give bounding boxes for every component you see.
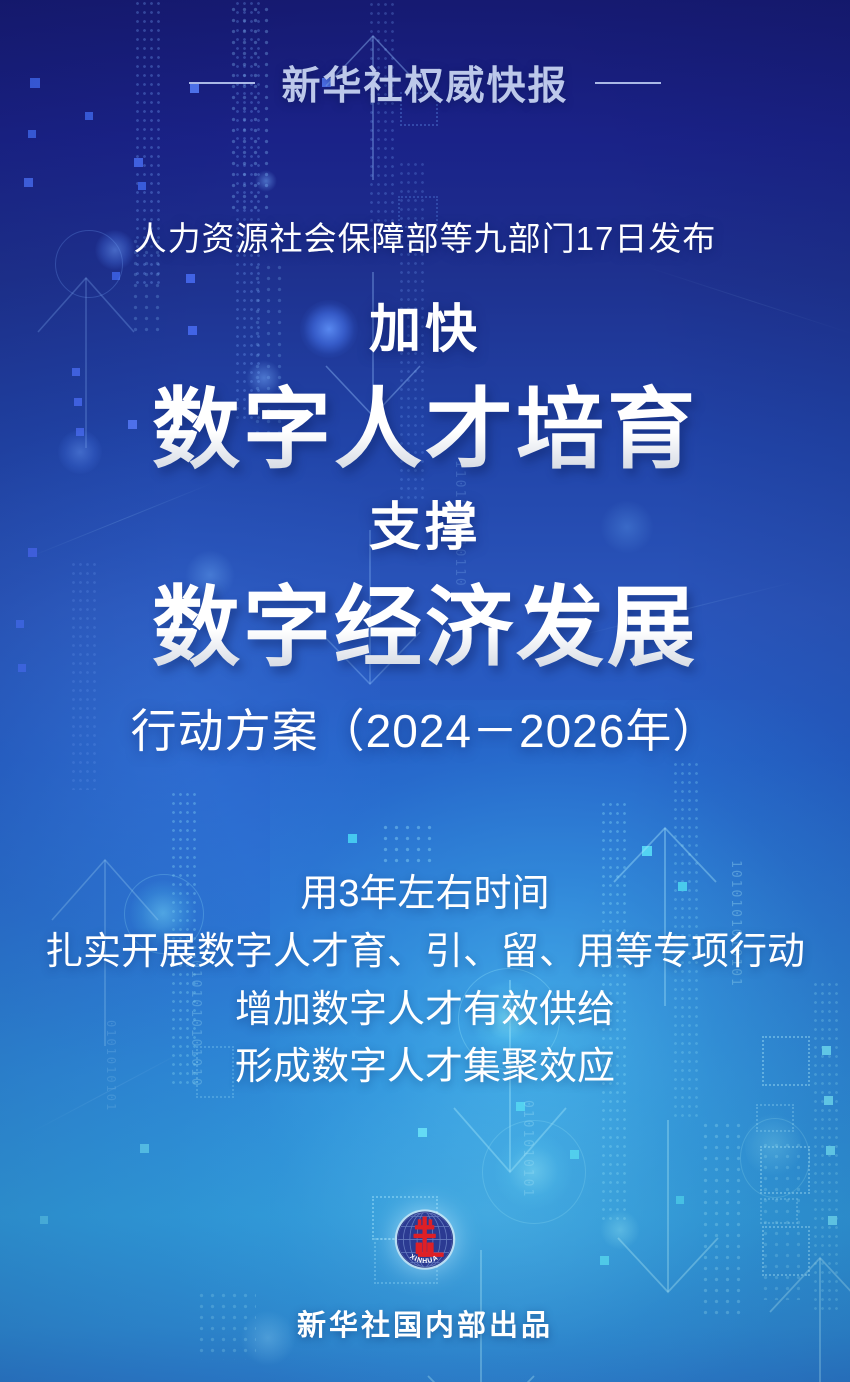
title-block: 加快 数字人才培育 支撑 数字经济发展 行动方案（2024－2026年） — [0, 300, 850, 762]
body-line: 形成数字人才集聚效应 — [0, 1039, 850, 1097]
header-kicker-row: 新华社权威快报 — [0, 55, 850, 111]
xinhua-logo-icon: XINHUA — [389, 1205, 461, 1277]
body-line: 用3年左右时间 — [0, 866, 850, 924]
body-text-block: 用3年左右时间 扎实开展数字人才育、引、留、用等专项行动 增加数字人才有效供给 … — [0, 866, 850, 1097]
title-line-years: 行动方案（2024－2026年） — [0, 702, 850, 762]
xinhua-logo: XINHUA — [389, 1205, 461, 1282]
title-spacer — [0, 558, 850, 576]
poster-content: 新华社权威快报 人力资源社会保障部等九部门17日发布 加快 数字人才培育 支撑 … — [0, 0, 850, 1382]
footer-credit-text: 新华社国内部出品 — [0, 1302, 850, 1344]
kicker-title: 新华社权威快报 — [281, 55, 568, 111]
kicker-rule-left — [189, 82, 255, 84]
kicker-rule-right — [595, 82, 661, 84]
title-line-2: 数字人才培育 — [0, 378, 850, 482]
poster-canvas: 0101010101010 1010101010101 0101010101 1… — [0, 0, 850, 1382]
footer-block: XINHUA 新华社国内部出品 — [0, 1205, 850, 1344]
title-line-1: 加快 — [0, 300, 850, 360]
title-spacer — [0, 482, 850, 498]
body-line: 增加数字人才有效供给 — [0, 982, 850, 1040]
dateline-text: 人力资源社会保障部等九部门17日发布 — [0, 212, 850, 260]
title-line-4: 数字经济发展 — [0, 576, 850, 680]
title-spacer — [0, 360, 850, 378]
title-line-3: 支撑 — [0, 498, 850, 558]
title-spacer — [0, 680, 850, 702]
body-line: 扎实开展数字人才育、引、留、用等专项行动 — [0, 924, 850, 982]
